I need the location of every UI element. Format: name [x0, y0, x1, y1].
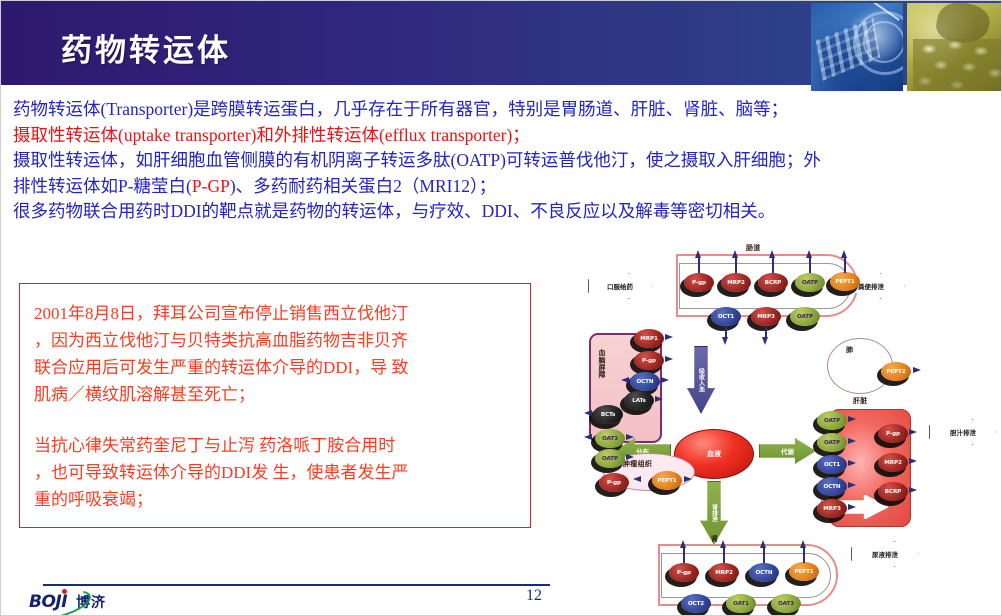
transporter-liver-mrp2: MRP2: [878, 453, 908, 472]
transporter-diagram: 肠道 P-gp MRP2 BCRP OATP PEPT1 OCT1 MRP3 O…: [581, 241, 999, 601]
transporter-bbb-oat3: OAT3: [595, 429, 625, 448]
label-kidney: 肾: [711, 534, 718, 544]
note-p1-line-2: ，因为西立伐他汀与贝特类抗高血脂药物吉非贝齐: [34, 327, 408, 354]
note-p2-line-1: 当抗心律失常药奎尼丁与止泻 药洛哌丁胺合用时: [34, 432, 408, 459]
header-photo-blue: [811, 3, 903, 91]
arrow-oral-administration: 口服给药: [588, 273, 652, 299]
arrow-tumor-2: [633, 476, 641, 482]
transporter-kidney-octn: OCTN: [749, 563, 779, 582]
label-liver: 肝脏: [853, 396, 868, 406]
page-title: 药物转运体: [61, 25, 231, 70]
logo-text: BOJI: [29, 592, 67, 612]
transporter-intestine-mrp2: MRP2: [721, 273, 751, 292]
body-line-2: 摄取性转运体(uptake transporter)和外排性转运体(efflux…: [13, 123, 978, 149]
arrow-head-k3: [760, 540, 766, 548]
arrow-stem-i4: [809, 257, 811, 273]
transporter-bbb-bcts: BCTs: [593, 405, 623, 424]
arrow-stem-i2: [735, 257, 737, 273]
arrow-stem-i5: [844, 257, 846, 273]
arrow-stem-k1: [683, 547, 685, 563]
body-line-3: 摄取性转运体，如肝细胞血管侧膜的有机阴离子转运多肽(OATP)可转运普伐他汀，使…: [13, 148, 978, 174]
transporter-intestine-pgp: P-gp: [684, 273, 714, 292]
arrow-lung-1: [913, 367, 921, 373]
arrow-bbb-6b: [584, 434, 592, 440]
transporter-bbb-lats: LATs: [624, 391, 654, 410]
logo-wordmark: BOJI: [29, 592, 67, 612]
transporter-bbb-octn: OCTN: [630, 372, 660, 391]
arrow-bbb-7: [626, 454, 634, 460]
arrow-bile-excretion: 胆汁排泄: [929, 419, 997, 445]
transporter-bbb-mrp1: MRP1: [634, 329, 664, 348]
pills-motif: [913, 39, 1001, 91]
transporter-intestine-bcrp: BCRP: [758, 273, 788, 292]
arrow-liver-u1: [848, 416, 856, 422]
transporter-liver-mrp3: MRP3: [817, 499, 847, 518]
transporter-kidney-mrp2: MRP2: [709, 563, 739, 582]
transporter-tumor-pgp: P-gp: [599, 473, 629, 492]
arrow-stem-i3: [772, 257, 774, 273]
arrow-head-k1: [680, 540, 686, 548]
arrow-liver-u2: [848, 438, 856, 444]
transporter-intestine-oatp: OATP: [795, 273, 825, 292]
arrow-stem-k2: [723, 547, 725, 563]
label-blood-brain-barrier: 血脑屏障: [597, 349, 607, 378]
transporter-kidney-oat3: OAT3: [771, 594, 801, 613]
label-lung: 肺: [846, 345, 853, 355]
slide: 药物转运体 药物转运体(Transporter)是跨膜转运蛋白，几乎存在于所有器…: [0, 0, 1002, 616]
transporter-kidney-pgp: P-gp: [669, 563, 699, 582]
label-intestine: 肠道: [746, 243, 761, 253]
transporter-liver-oatp2: OATP: [817, 433, 847, 452]
transporter-kidney-pept1: PEPT1: [789, 562, 819, 581]
arrow-head-ib2: [762, 337, 768, 345]
logo-dot-icon: [62, 589, 67, 594]
transporter-liver-oct1: OCT1: [817, 455, 847, 474]
body-line-4: 排性转运体如P-糖莹白(P-GP)、多药耐药相关蛋白2（MRI12）；: [13, 174, 978, 200]
arrow-head-i2: [732, 250, 738, 258]
transporter-bbb-pgp: P-gp: [634, 351, 664, 370]
arrow-bbb-3: [661, 377, 669, 383]
transporter-kidney-oat1: OAT1: [726, 594, 756, 613]
arrow-liver-u4: [848, 482, 856, 488]
dial-ring-inner: [863, 21, 903, 63]
arrow-head-k2: [720, 540, 726, 548]
arrow-urine-excretion: 尿液排泄: [851, 541, 919, 567]
arrow-bbb-5: [584, 410, 592, 416]
transporter-bbb-oatp: OATP: [595, 449, 625, 468]
arrow-head-i5: [841, 250, 847, 258]
arrow-head-i3: [769, 250, 775, 258]
arrow-stem-k4: [803, 547, 805, 563]
note-p2-line-2: ，也可导致转运体介导的DDI发 生，使患者发生严: [34, 459, 408, 486]
arrow-bbb-1: [665, 334, 673, 340]
arrow-head-ib1: [722, 337, 728, 345]
transporter-lung-pept2: PEPT2: [881, 362, 911, 381]
arrow-liver-e1: [909, 429, 917, 435]
logo: BOJI 博济: [29, 589, 106, 615]
transporter-intestine-oatp2: OATP: [790, 307, 820, 326]
note-p1-line-4: 肌病／横纹肌溶解甚至死亡；: [34, 381, 408, 408]
note-paragraph-2: 当抗心律失常药奎尼丁与止泻 药洛哌丁胺合用时 ，也可导致转运体介导的DDI发 生…: [34, 432, 408, 513]
arrow-bbb-4: [655, 396, 663, 402]
label-tumor-tissue: 肿瘤组织: [623, 459, 652, 469]
arrow-liver-u3: [848, 460, 856, 466]
arrow-head-k4: [800, 540, 806, 548]
transporter-intestine-oct1: OCT1: [711, 307, 741, 326]
body-line-4-pre: 排性转运体如P-糖莹白(: [13, 176, 192, 196]
note-p1-line-3: 联合应用后可发生严重的转运体介导的DDI，导 致: [34, 354, 408, 381]
arrow-tumor-1: [684, 476, 692, 482]
note-paragraph-1: 2001年8月8日，拜耳公司宣布停止销售西立伐他汀 ，因为西立伐他汀与贝特类抗高…: [34, 300, 408, 408]
arrow-head-i1: [695, 250, 701, 258]
arrow-stem-k3: [763, 547, 765, 563]
transporter-liver-bcrp: BCRP: [878, 482, 908, 501]
arrow-liver-e2: [909, 458, 917, 464]
note-box: 2001年8月8日，拜耳公司宣布停止销售西立伐他汀 ，因为西立伐他汀与贝特类抗高…: [19, 283, 531, 528]
arrow-bbb-2: [665, 356, 673, 362]
body-line-5: 很多药物联合用药时DDI的靶点就是药物的转运体，与疗效、DDI、不良反应以及解毒…: [13, 199, 978, 225]
arrow-bbb-3b: [621, 377, 629, 383]
body-line-4-highlight: P-GP: [192, 176, 230, 196]
footer-divider: [43, 584, 550, 586]
arrow-metabolism: 代谢: [759, 438, 816, 464]
transporter-tumor-pept1: PEPT1: [652, 471, 682, 490]
transporter-liver-oatp1: OATP: [817, 411, 847, 430]
transporter-liver-pgp: P-gp: [878, 424, 908, 443]
arrow-liver-e3: [909, 487, 917, 493]
body-text: 药物转运体(Transporter)是跨膜转运蛋白，几乎存在于所有器官，特别是胃…: [13, 97, 978, 225]
header-photo-olive: [907, 3, 1001, 91]
body-line-4-post: )、多药耐药相关蛋白2（MRI12）；: [230, 176, 496, 196]
arrow-head-i4: [806, 250, 812, 258]
transporter-intestine-pept1: PEPT1: [830, 272, 860, 291]
note-p1-line-1: 2001年8月8日，拜耳公司宣布停止销售西立伐他汀: [34, 300, 408, 327]
arrow-liver-u5: [848, 504, 856, 510]
arrow-bbb-6: [626, 434, 634, 440]
body-line-1: 药物转运体(Transporter)是跨膜转运蛋白，几乎存在于所有器官，特别是胃…: [13, 97, 978, 123]
arrow-stem-i1: [698, 257, 700, 273]
page-number: 12: [517, 587, 551, 605]
transporter-liver-octn: OCTN: [817, 477, 847, 496]
transporter-intestine-mrp3: MRP3: [751, 307, 781, 326]
logo-chinese-name: 博济: [76, 592, 106, 612]
note-p2-line-3: 重的呼吸衰竭；: [34, 486, 408, 513]
arrow-absorption-into-blood: 吸收入血: [687, 346, 715, 414]
transporter-kidney-oct2: OCT2: [681, 594, 711, 613]
